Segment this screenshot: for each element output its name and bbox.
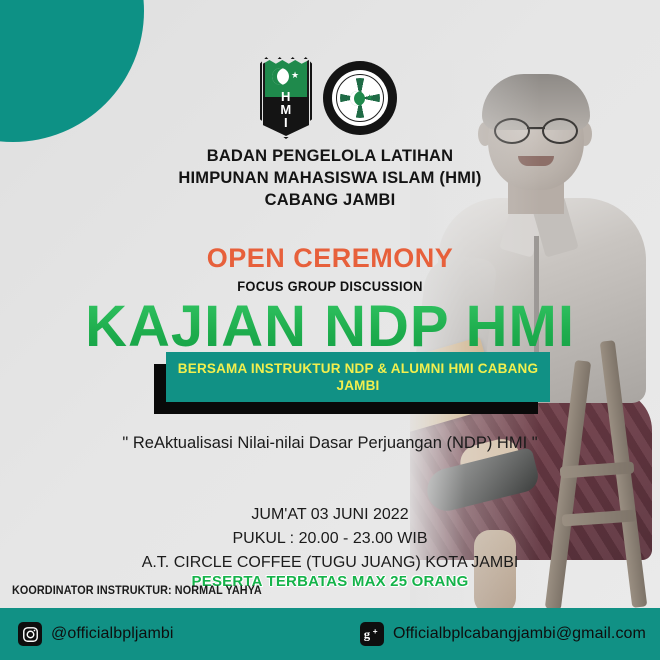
crescent-moon-icon: [272, 68, 289, 85]
bpl-hmi-circular-emblem: ★: [323, 61, 397, 135]
event-theme-quote: " ReAktualisasi Nilai-nilai Dasar Perjua…: [0, 434, 660, 453]
contact-footer: @officialbpljambi g + Officialbplcabangj…: [0, 608, 660, 660]
emblem-inner-disc: ★: [332, 70, 388, 126]
banner-text: BERSAMA INSTRUKTUR NDP & ALUMNI HMI CABA…: [176, 360, 540, 394]
banner-body: BERSAMA INSTRUKTUR NDP & ALUMNI HMI CABA…: [166, 352, 550, 402]
instagram-contact[interactable]: @officialbpljambi: [18, 622, 174, 646]
instagram-handle[interactable]: @officialbpljambi: [51, 625, 174, 643]
crescent-moon-icon: [350, 91, 365, 106]
org-line-2: HIMPUNAN MAHASISWA ISLAM (HMI): [0, 167, 660, 189]
event-time: PUKUL : 20.00 - 23.00 WIB: [0, 527, 660, 551]
star-icon: ★: [366, 93, 373, 102]
instagram-icon[interactable]: [18, 622, 42, 646]
event-venue: A.T. CIRCLE COFFEE (TUGU JUANG) KOTA JAM…: [0, 551, 660, 575]
coordinator-note: KOORDINATOR INSTRUKTUR: NORMAL YAHYA: [12, 585, 262, 597]
event-poster: ★ H M I ★ BADAN PENGELOLA LATIHAN HIMPUN…: [0, 0, 660, 660]
hmi-shield-logo: ★ H M I: [263, 60, 309, 136]
logo-row: ★ H M I ★: [0, 60, 660, 136]
page-title: KAJIAN NDP HMI: [0, 293, 660, 360]
svg-text:+: +: [373, 627, 378, 636]
focus-group-discussion-label: FOCUS GROUP DISCUSSION: [26, 278, 633, 294]
organization-heading: BADAN PENGELOLA LATIHAN HIMPUNAN MAHASIS…: [0, 145, 660, 211]
org-line-1: BADAN PENGELOLA LATIHAN: [0, 145, 660, 167]
shield-letter-i: I: [263, 116, 309, 129]
event-schedule: JUM'AT 03 JUNI 2022 PUKUL : 20.00 - 23.0…: [0, 503, 660, 575]
svg-text:g: g: [364, 628, 371, 642]
org-line-3: CABANG JAMBI: [0, 189, 660, 211]
event-date: JUM'AT 03 JUNI 2022: [0, 503, 660, 527]
google-plus-icon[interactable]: g +: [360, 622, 384, 646]
email-address[interactable]: Officialbplcabangjambi@gmail.com: [393, 625, 646, 643]
shield-letters: H M I: [263, 90, 309, 129]
star-icon: ★: [291, 71, 299, 80]
open-ceremony-label: OPEN CEREMONY: [0, 243, 660, 274]
speaker-banner: BERSAMA INSTRUKTUR NDP & ALUMNI HMI CABA…: [166, 352, 550, 402]
email-contact[interactable]: g + Officialbplcabangjambi@gmail.com: [360, 622, 646, 646]
